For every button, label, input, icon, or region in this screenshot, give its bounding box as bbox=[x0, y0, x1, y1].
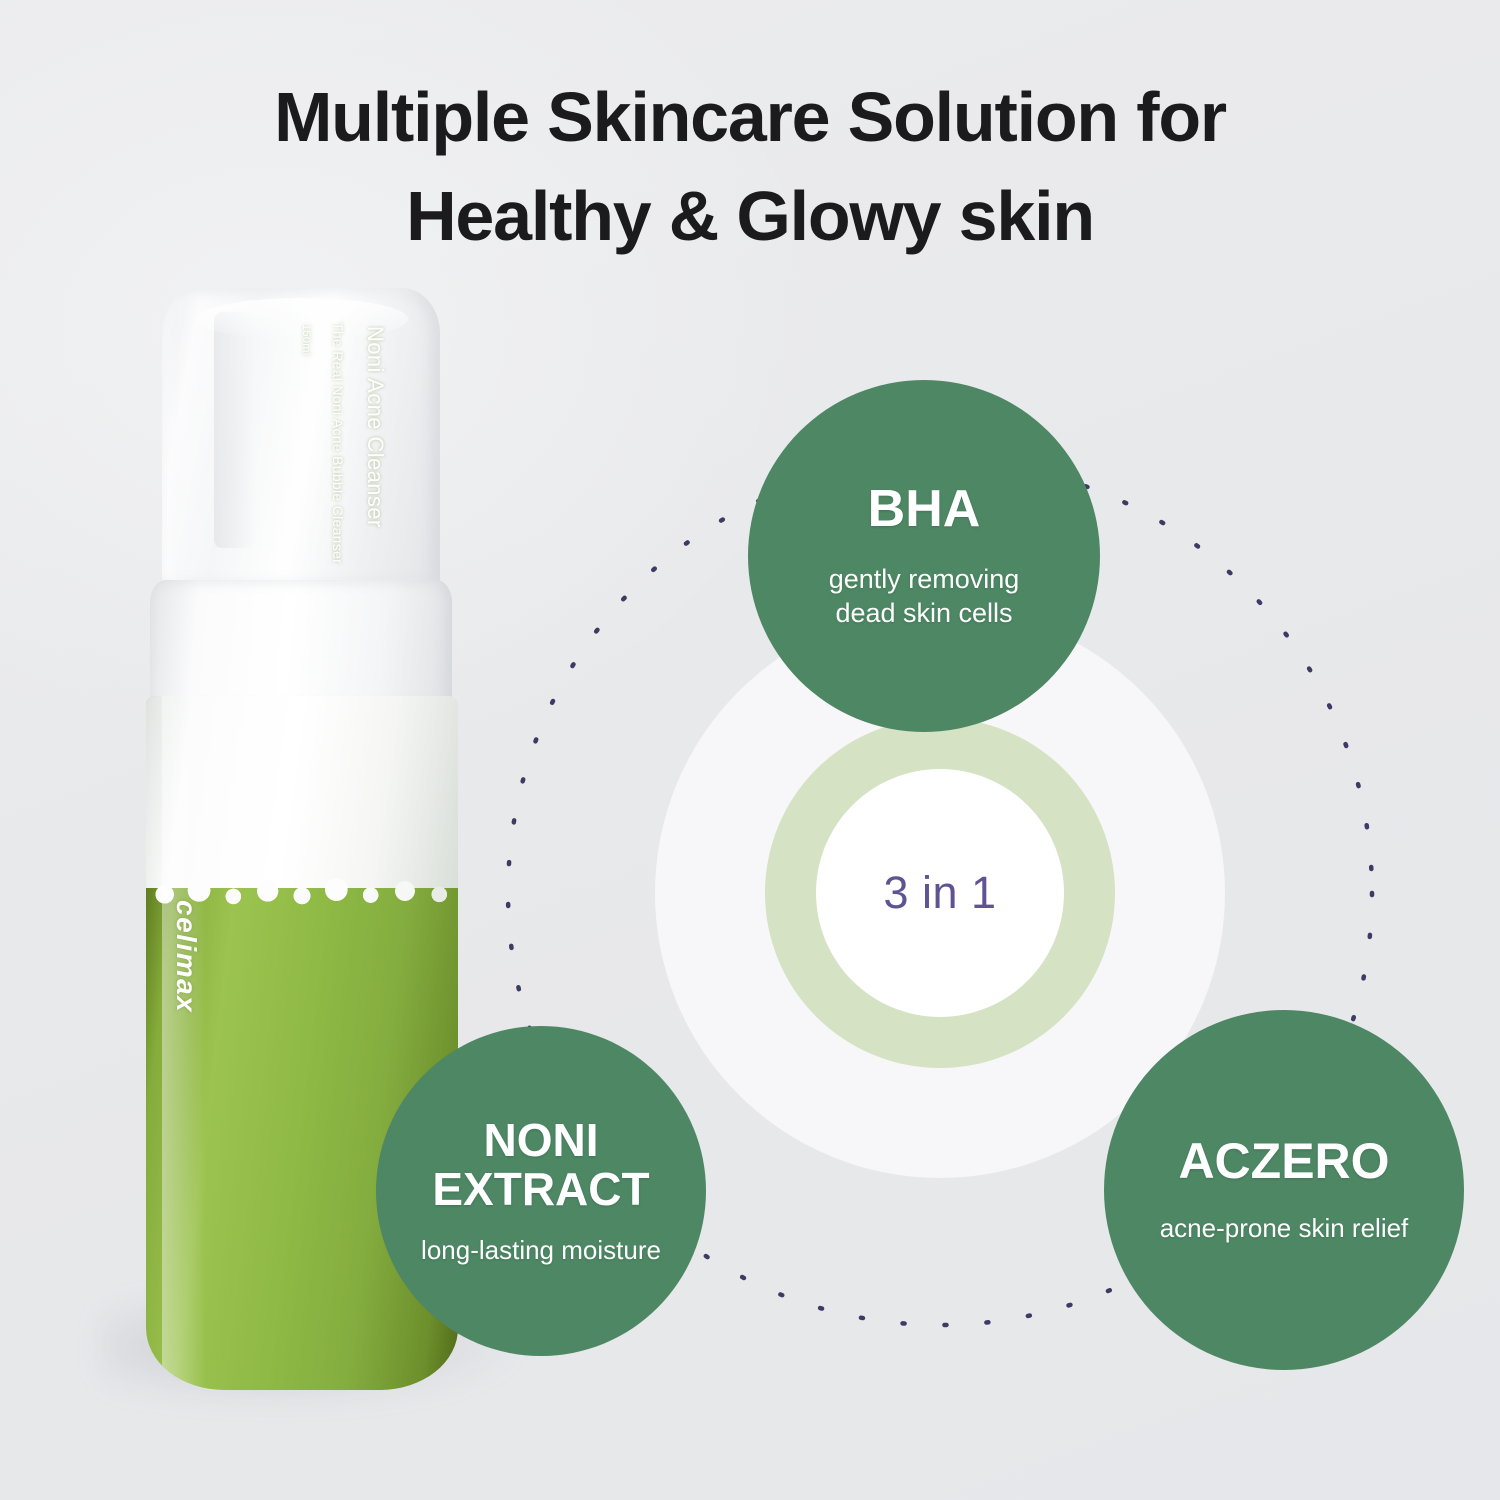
brand-logo: celimax bbox=[170, 900, 202, 1013]
node-aczero-title: ACZERO bbox=[1178, 1135, 1389, 1188]
bottle-pump-collar bbox=[150, 580, 452, 708]
bottle-label-volume: 150ml bbox=[300, 324, 312, 355]
halo-core-circle: 3 in 1 bbox=[816, 769, 1064, 1017]
page-title: Multiple Skincare Solution for Healthy &… bbox=[0, 68, 1500, 267]
node-noni-title-line-2: EXTRACT bbox=[432, 1163, 649, 1215]
node-bha-description: gently removing dead skin cells bbox=[829, 563, 1020, 630]
node-bha-desc-line-1: gently removing bbox=[829, 564, 1020, 594]
node-bha-desc-line-2: dead skin cells bbox=[835, 598, 1012, 628]
headline-line-2: Healthy & Glowy skin bbox=[0, 167, 1500, 266]
bottle-gloss-highlight bbox=[162, 696, 206, 1390]
node-aczero-description: acne-prone skin relief bbox=[1160, 1212, 1409, 1244]
node-bha-title: BHA bbox=[868, 482, 981, 537]
node-noni-description: long-lasting moisture bbox=[421, 1234, 661, 1266]
node-noni-title: NONI EXTRACT bbox=[432, 1116, 649, 1214]
three-in-one-diagram: 3 in 1 BHA gently removing dead skin cel… bbox=[440, 378, 1440, 1408]
bottle-label-title: Noni Acne Cleanser bbox=[362, 326, 388, 528]
node-noni-extract[interactable]: NONI EXTRACT long-lasting moisture bbox=[376, 1026, 706, 1356]
node-noni-title-line-1: NONI bbox=[483, 1114, 598, 1166]
node-bha[interactable]: BHA gently removing dead skin cells bbox=[748, 380, 1100, 732]
bottle-label-subtitle: The Real Noni Acne Bubble Cleanser bbox=[330, 322, 346, 564]
center-label: 3 in 1 bbox=[883, 867, 996, 919]
node-aczero[interactable]: ACZERO acne-prone skin relief bbox=[1104, 1010, 1464, 1370]
headline-line-1: Multiple Skincare Solution for bbox=[0, 68, 1500, 167]
